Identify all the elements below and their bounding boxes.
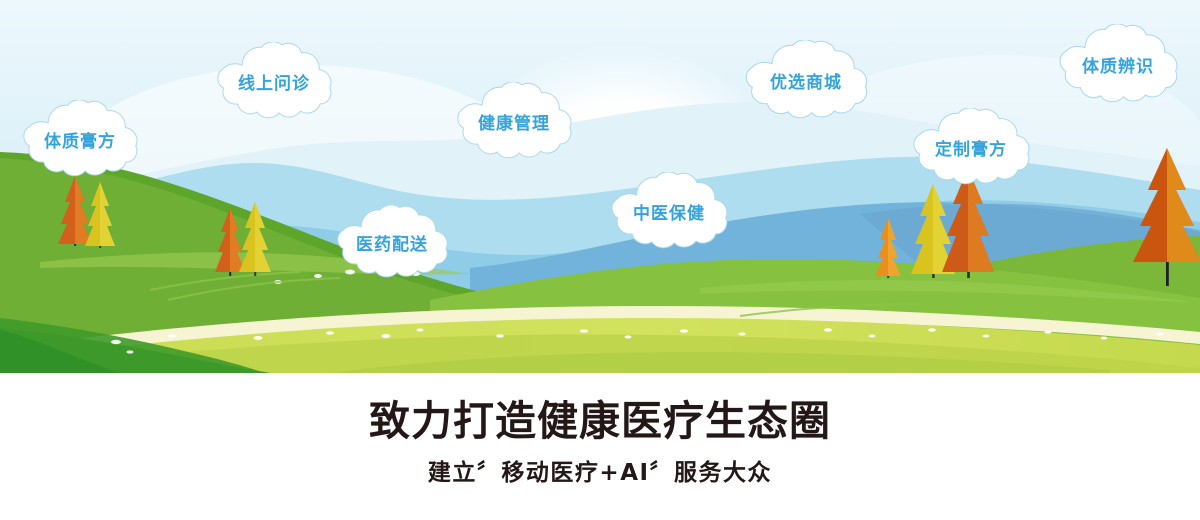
cloud-label-text: 健康管理 [478, 109, 550, 134]
caption-block: 致力打造健康医疗生态圈 建立〞移动医疗+AI〞服务大众 [0, 373, 1200, 520]
hero-illustration [0, 0, 1200, 373]
cloud-label-text: 中医保健 [633, 199, 705, 224]
page-root: 体质膏方线上问诊健康管理医药配送中医保健优选商城定制膏方体质辨识 致力打造健康医… [0, 0, 1200, 520]
page-subtitle: 建立〞移动医疗+AI〞服务大众 [428, 461, 772, 486]
page-title: 致力打造健康医疗生态圈 [369, 399, 831, 443]
cloud-label-text: 定制膏方 [935, 135, 1007, 160]
cloud-tizhi-gaofang[interactable]: 体质膏方 [18, 100, 142, 178]
cloud-zhongyi-baojian[interactable]: 中医保健 [606, 172, 732, 250]
cloud-youxuan-shangcheng[interactable]: 优选商城 [740, 40, 872, 120]
cloud-jiankang-guanli[interactable]: 健康管理 [452, 82, 576, 160]
cloud-label-text: 体质辨识 [1082, 52, 1154, 77]
cloud-label-text: 医药配送 [356, 230, 428, 255]
cloud-label-text: 体质膏方 [44, 127, 116, 152]
cloud-label-text: 优选商城 [770, 68, 842, 93]
cloud-label-text: 线上问诊 [238, 69, 310, 94]
cloud-tizhi-bianshi[interactable]: 体质辨识 [1054, 24, 1182, 104]
cloud-dingzhi-gaofang[interactable]: 定制膏方 [908, 108, 1034, 186]
cloud-yiyao-peisong[interactable]: 医药配送 [332, 205, 452, 279]
cloud-xianshang-wenzhen[interactable]: 线上问诊 [212, 42, 336, 120]
